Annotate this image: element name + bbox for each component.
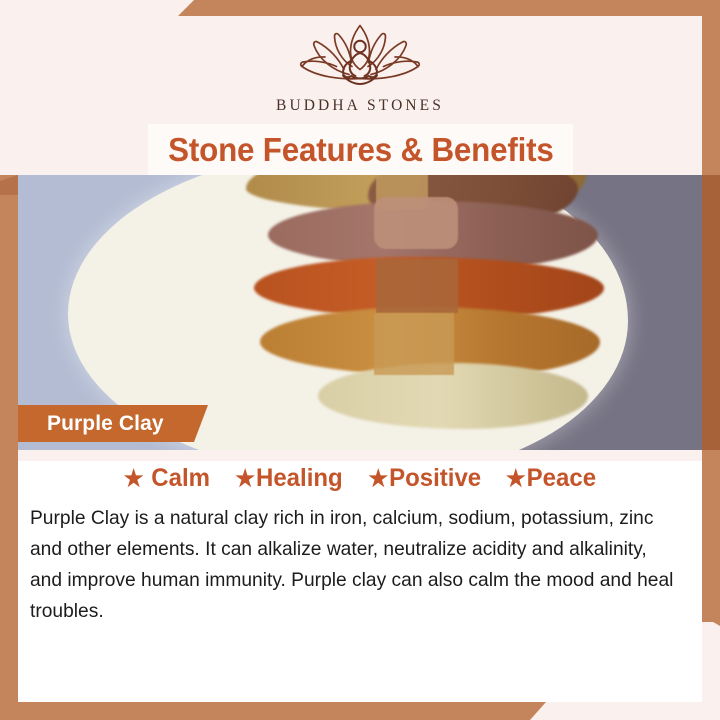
content-top-divider [18,450,702,461]
benefit-label: Positive [389,464,481,493]
frame-border-right-tip [702,600,720,626]
photo-clay-swatch-4 [374,313,454,375]
title-band: Stone Features & Benefits [148,124,573,175]
star-icon: ★ [506,467,526,490]
content-panel: ★ Calm ★ Healing ★ Positive ★ Peace Purp… [18,450,702,702]
frame-border-top [178,0,720,16]
photo-clay-swatch-3 [376,259,458,313]
star-icon: ★ [124,467,144,490]
benefit-positive: ★ Positive [368,464,481,493]
frame-border-right-shaded [702,175,720,450]
benefit-peace: ★ Peace [506,464,596,493]
star-icon: ★ [235,467,255,490]
brand-logo: BUDDHA STONES [0,14,720,115]
lotus-meditating-buddha-icon [285,14,435,90]
star-icon: ★ [368,467,388,490]
benefits-list: ★ Calm ★ Healing ★ Positive ★ Peace [18,464,702,493]
benefit-label: Calm [151,464,210,493]
frame-border-bottom [0,702,546,720]
product-name-label: Purple Clay [47,412,164,436]
benefit-calm: ★ Calm [124,464,210,493]
benefit-label: Peace [527,464,596,493]
photo-clay-swatch-2 [374,197,458,249]
product-description: Purple Clay is a natural clay rich in ir… [30,503,682,627]
brand-wordmark: BUDDHA STONES [276,97,444,115]
page-title: Stone Features & Benefits [168,131,553,169]
product-name-banner: Purple Clay [18,405,208,442]
frame-border-left [0,175,18,705]
benefit-label: Healing [256,464,343,493]
benefit-healing: ★ Healing [235,464,342,493]
